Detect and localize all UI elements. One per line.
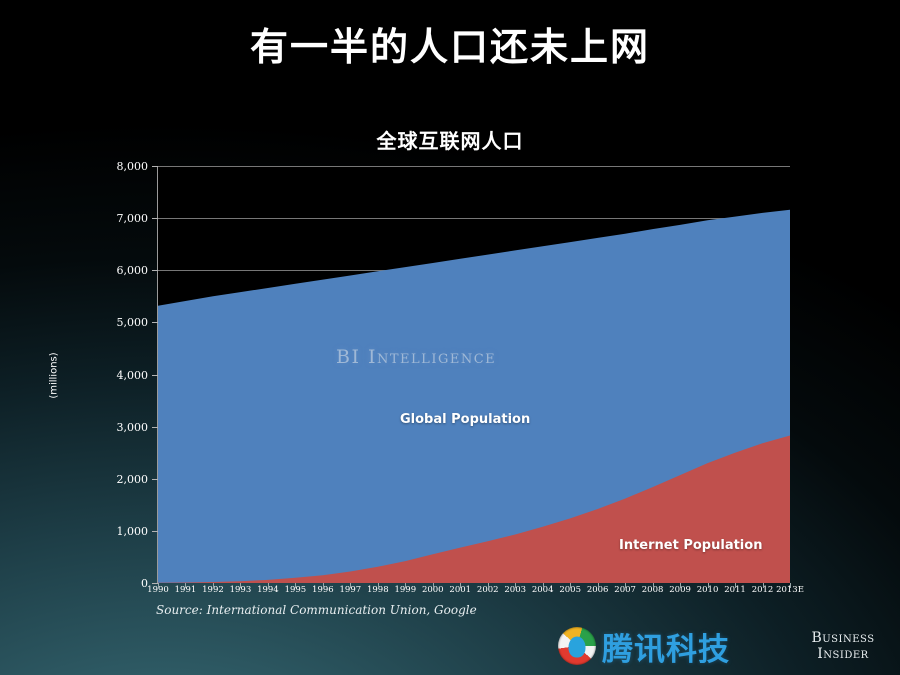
x-axis-tick-mark [158,583,159,588]
x-axis-tick-mark [735,583,736,588]
y-axis-tick: 5,000 [100,317,148,328]
x-axis-tick-mark [570,583,571,588]
business-insider-line1: Business [795,630,891,646]
y-axis-tick: 1,000 [100,526,148,537]
x-axis-tick-mark [185,583,186,588]
x-axis-tick-mark [295,583,296,588]
y-axis-tick: 8,000 [100,161,148,172]
x-axis-tick-mark [598,583,599,588]
bi-intelligence-watermark: BI Intelligence [336,346,496,368]
y-axis-tick: 0 [100,578,148,589]
x-axis-tick-mark [460,583,461,588]
x-axis-tick-mark [763,583,764,588]
x-axis-tick-mark [213,583,214,588]
y-axis-tick: 7,000 [100,213,148,224]
x-axis-tick-mark [708,583,709,588]
x-axis-tick-mark [653,583,654,588]
x-axis-tick-mark [350,583,351,588]
y-axis-tick: 4,000 [100,370,148,381]
x-axis-tick-mark [268,583,269,588]
x-axis-tick-mark [543,583,544,588]
x-axis-tick-mark [323,583,324,588]
series-label-internet-population: Internet Population [619,538,762,553]
y-axis-tick: 6,000 [100,265,148,276]
area-series-svg [158,166,790,583]
slide-canvas: 有一半的人口还未上网 全球互联网人口 (millions) 01,0002,00… [0,0,900,675]
tencent-logo: 腾讯科技 [558,624,768,668]
series-label-global-population: Global Population [400,412,530,427]
tencent-label: 腾讯科技 [602,624,730,669]
business-insider-line2: Insider [795,646,891,662]
x-axis-tick-mark [433,583,434,588]
plot-area: BI Intelligence [158,166,790,583]
y-axis-label: (millions) [49,316,60,436]
tencent-penguin-icon [558,627,596,665]
y-axis-tick: 3,000 [100,422,148,433]
x-axis-tick-mark [405,583,406,588]
x-axis-tick-mark [240,583,241,588]
x-axis-tick-mark [680,583,681,588]
x-axis-tick-mark [378,583,379,588]
x-axis-tick-mark [488,583,489,588]
x-axis-tick-mark [790,583,791,588]
x-axis-tick-mark [515,583,516,588]
source-note: Source: International Communication Unio… [156,603,477,617]
chart-container: (millions) 01,0002,0003,0004,0005,0006,0… [0,0,900,675]
business-insider-logo: Business Insider [795,630,891,662]
x-axis-tick-mark [625,583,626,588]
y-axis-tick: 2,000 [100,474,148,485]
